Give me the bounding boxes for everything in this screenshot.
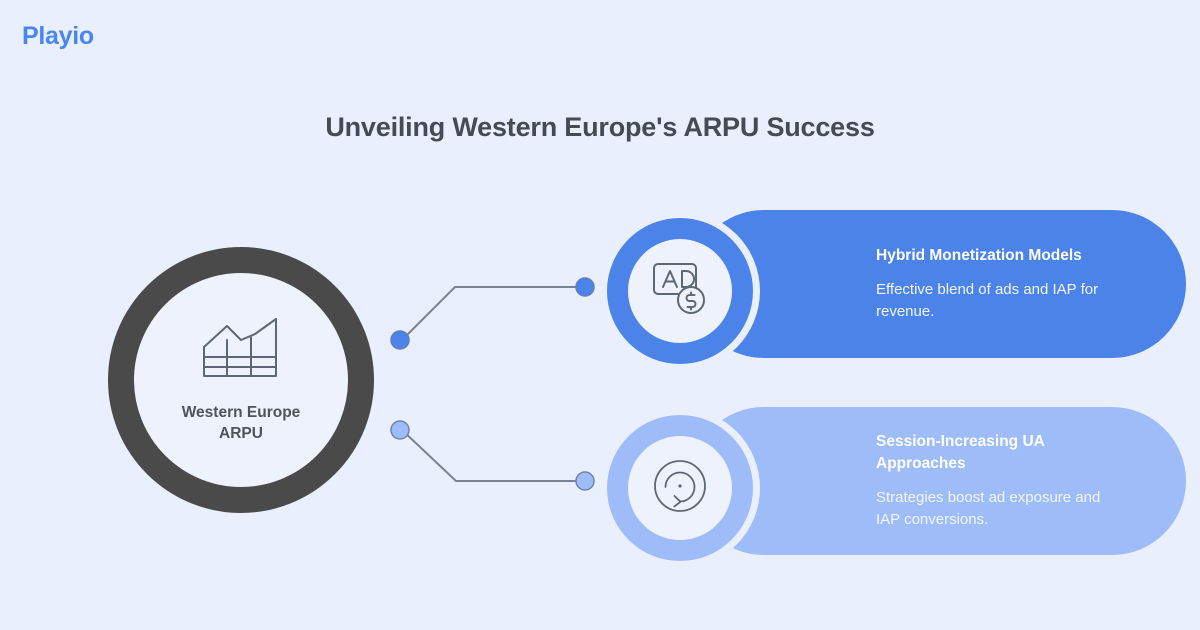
connector-node-1-end xyxy=(576,278,594,296)
branch-icon-wrap-2 xyxy=(600,408,760,568)
connector-path-1 xyxy=(402,287,584,340)
branch-body-2: Strategies boost ad exposure and IAP con… xyxy=(876,487,1128,531)
hub-label: Western Europe ARPU xyxy=(151,403,331,445)
branch-body-1: Effective blend of ads and IAP for reven… xyxy=(876,279,1128,323)
hub-label-line1: Western Europe xyxy=(151,403,331,424)
page-title: Unveiling Western Europe's ARPU Success xyxy=(0,112,1200,143)
hub-circle[interactable]: Western Europe ARPU xyxy=(108,247,374,513)
branch-heading-2: Session-Increasing UA Approaches xyxy=(876,431,1126,474)
connector-path-2 xyxy=(402,430,584,481)
branch-icon-wrap-1 xyxy=(600,211,760,371)
refresh-session-icon xyxy=(651,457,709,520)
brand-logo: Playio xyxy=(22,22,94,51)
branch-icon-ring-2 xyxy=(607,415,753,561)
branch-card-1[interactable]: Hybrid Monetization Models Effective ble… xyxy=(690,210,1186,358)
branch-heading-1: Hybrid Monetization Models xyxy=(876,245,1126,266)
connector-node-2-end xyxy=(576,472,594,490)
connector-node-1-start xyxy=(391,331,409,349)
ads-dollar-icon xyxy=(649,260,711,323)
branch-card-2[interactable]: Session-Increasing UA Approaches Strateg… xyxy=(690,407,1186,555)
connector-node-2-start xyxy=(391,421,409,439)
branch-icon-ring-1 xyxy=(607,218,753,364)
branch-icon-inner-2 xyxy=(628,436,732,540)
area-chart-grid-icon xyxy=(200,316,282,385)
branch-icon-inner-1 xyxy=(628,239,732,343)
hub-label-line2: ARPU xyxy=(151,424,331,445)
